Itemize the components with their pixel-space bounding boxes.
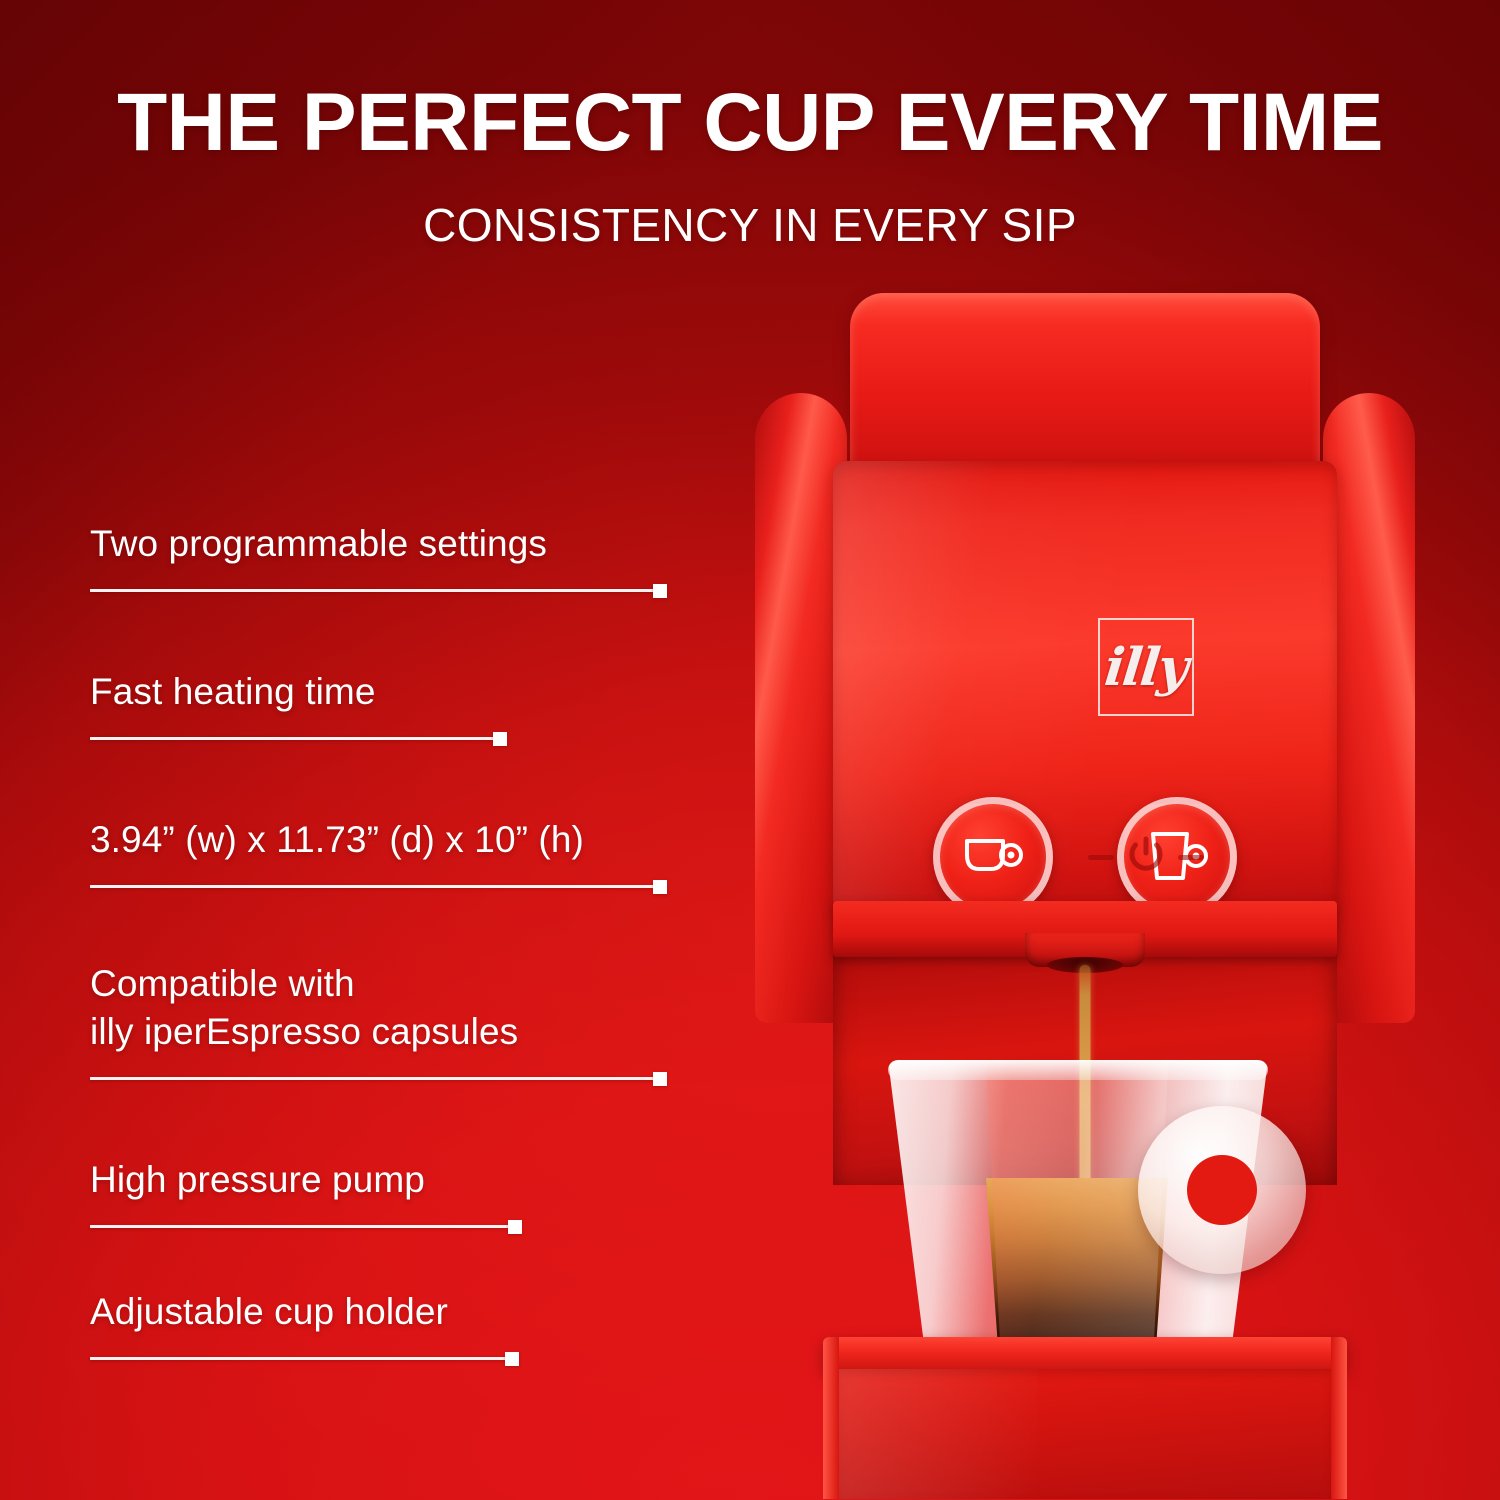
feature-rule-line bbox=[90, 1225, 508, 1228]
power-indicator[interactable] bbox=[1066, 829, 1226, 885]
espresso-button[interactable] bbox=[933, 797, 1053, 917]
feature-label: Two programmable settings bbox=[90, 520, 690, 568]
feature-item: High pressure pump bbox=[90, 1156, 690, 1234]
feature-rule bbox=[90, 880, 690, 894]
feature-item: Compatible with illy iperEspresso capsul… bbox=[90, 960, 690, 1086]
power-dash-right bbox=[1178, 855, 1204, 860]
feature-label: 3.94” (w) x 11.73” (d) x 10” (h) bbox=[90, 816, 690, 864]
feature-label: Fast heating time bbox=[90, 668, 690, 716]
power-icon bbox=[1126, 834, 1166, 881]
feature-item: 3.94” (w) x 11.73” (d) x 10” (h) bbox=[90, 816, 690, 894]
feature-rule-line bbox=[90, 1357, 505, 1360]
drip-tray-shelf bbox=[823, 1337, 1347, 1373]
feature-rule bbox=[90, 1352, 690, 1366]
feature-item: Two programmable settings bbox=[90, 520, 690, 598]
capsule-lid-lever bbox=[850, 293, 1320, 488]
feature-rule-line bbox=[90, 1077, 653, 1080]
feature-item: Adjustable cup holder bbox=[90, 1288, 690, 1366]
coffee-machine-illustration: illy bbox=[745, 285, 1425, 1500]
feature-rule bbox=[90, 732, 690, 746]
espresso-cup-icon bbox=[961, 835, 1025, 879]
page-subheadline: CONSISTENCY IN EVERY SIP bbox=[0, 198, 1500, 252]
machine-front-panel: illy bbox=[833, 461, 1337, 921]
feature-label: Adjustable cup holder bbox=[90, 1288, 690, 1336]
feature-rule bbox=[90, 1220, 690, 1234]
cup-handle-hole bbox=[1187, 1155, 1257, 1225]
power-dash-left bbox=[1088, 855, 1114, 860]
feature-rule bbox=[90, 584, 690, 598]
feature-label: High pressure pump bbox=[90, 1156, 690, 1204]
drip-tray-gloss bbox=[837, 1369, 1037, 1499]
feature-rule-endcap bbox=[505, 1352, 519, 1366]
espresso-glass-cup bbox=[870, 1060, 1300, 1370]
feature-rule-endcap bbox=[653, 584, 667, 598]
feature-rule-line bbox=[90, 589, 653, 592]
feature-rule-endcap bbox=[493, 732, 507, 746]
feature-rule-line bbox=[90, 737, 493, 740]
feature-rule bbox=[90, 1072, 690, 1086]
cup-handle bbox=[1138, 1106, 1306, 1274]
illy-logo: illy bbox=[1098, 618, 1194, 716]
illy-logo-text: illy bbox=[1102, 637, 1190, 698]
cup-rim bbox=[888, 1060, 1268, 1080]
feature-rule-endcap bbox=[653, 880, 667, 894]
feature-item: Fast heating time bbox=[90, 668, 690, 746]
feature-rule-endcap bbox=[653, 1072, 667, 1086]
page-headline: THE PERFECT CUP EVERY TIME bbox=[0, 76, 1500, 170]
feature-rule-line bbox=[90, 885, 653, 888]
machine-base-left-edge bbox=[823, 1337, 839, 1499]
feature-label: Compatible with illy iperEspresso capsul… bbox=[90, 960, 690, 1056]
feature-rule-endcap bbox=[508, 1220, 522, 1234]
machine-base-right-edge bbox=[1331, 1337, 1347, 1499]
